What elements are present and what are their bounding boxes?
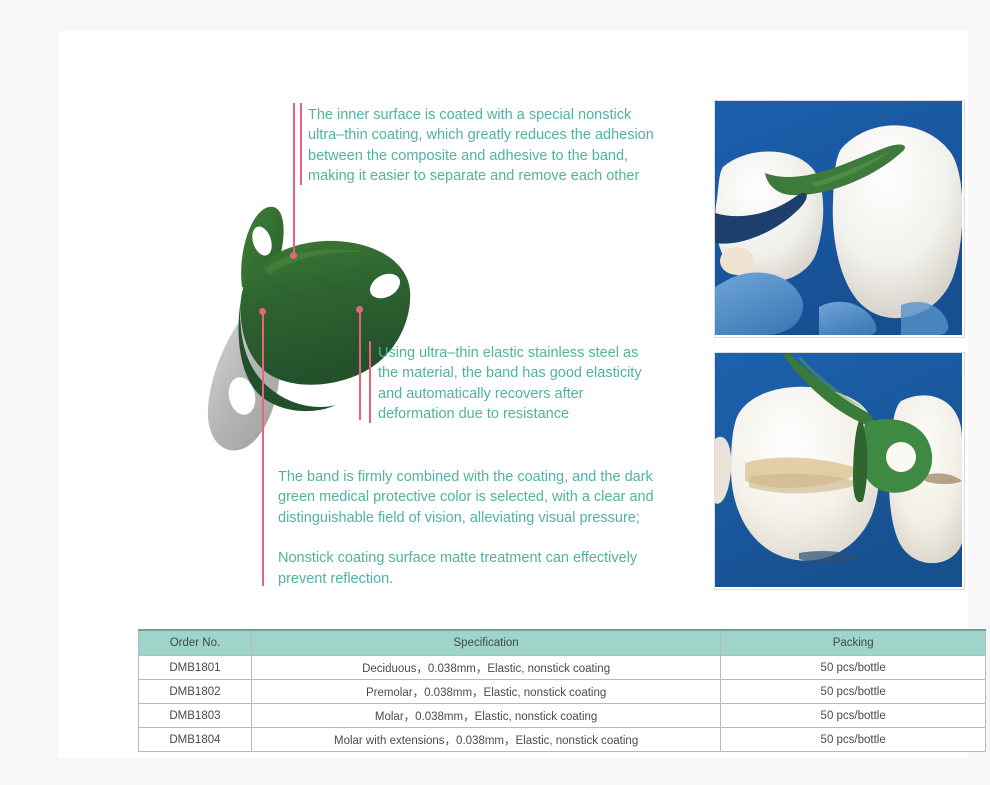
callout-text-stainless-steel: Using ultra–thin elastic stainless steel… (378, 343, 668, 425)
cell-specification: Molar，0.038mm，Elastic, nonstick coating (251, 704, 720, 728)
clinical-photo-band-occlusal-view (714, 352, 965, 590)
callout-1-line-3: between the composite and adhesive to th… (308, 146, 688, 166)
cell-order-no: DMB1801 (139, 656, 252, 680)
callout-3-line-1: The band is firmly combined with the coa… (278, 467, 678, 487)
cell-specification: Molar with extensions，0.038mm，Elastic, n… (251, 728, 720, 752)
product-sheet-card: The inner surface is coated with a speci… (58, 31, 968, 758)
clinical-photo-band-between-teeth (714, 100, 965, 338)
rule-bar-callout-3 (262, 436, 264, 586)
callout-1-line-2: ultra–thin coating, which greatly reduce… (308, 125, 688, 145)
cell-specification: Deciduous，0.038mm，Elastic, nonstick coat… (251, 656, 720, 680)
cell-packing: 50 pcs/bottle (721, 656, 986, 680)
rule-bar-callout-2 (369, 341, 371, 423)
callout-2-line-1: Using ultra–thin elastic stainless steel… (378, 343, 668, 363)
table-header-row: Order No. Specification Packing (139, 630, 986, 656)
table-row: DMB1804 Molar with extensions，0.038mm，El… (139, 728, 986, 752)
callout-3-line-4: Nonstick coating surface matte treatment… (278, 548, 678, 568)
column-header-order-no: Order No. (139, 630, 252, 656)
callout-2-line-3: and automatically recovers after (378, 384, 668, 404)
leader-line-callout-3 (262, 312, 264, 436)
cell-order-no: DMB1802 (139, 680, 252, 704)
photo-bottom-content (715, 353, 964, 589)
photo-bottom-graphic (715, 353, 962, 587)
cell-order-no: DMB1803 (139, 704, 252, 728)
cell-order-no: DMB1804 (139, 728, 252, 752)
callout-3-spacer (278, 528, 678, 548)
callout-3-line-5: prevent reflection. (278, 569, 678, 589)
callout-text-color-and-matte: The band is firmly combined with the coa… (278, 467, 678, 589)
leader-line-callout-2 (359, 310, 361, 420)
cell-packing: 50 pcs/bottle (721, 728, 986, 752)
spec-table-body: DMB1801 Deciduous，0.038mm，Elastic, nonst… (139, 656, 986, 752)
callout-3-line-2: green medical protective color is select… (278, 487, 678, 507)
rule-bar-callout-1 (300, 103, 302, 185)
table-row: DMB1802 Premolar，0.038mm，Elastic, nonsti… (139, 680, 986, 704)
specification-table: Order No. Specification Packing DMB1801 … (138, 629, 986, 752)
cell-packing: 50 pcs/bottle (721, 704, 986, 728)
table-row: DMB1801 Deciduous，0.038mm，Elastic, nonst… (139, 656, 986, 680)
column-header-packing: Packing (721, 630, 986, 656)
callout-text-nonstick-coating: The inner surface is coated with a speci… (308, 105, 688, 187)
leader-line-callout-1 (293, 103, 295, 255)
callout-1-line-4: making it easier to separate and remove … (308, 166, 688, 186)
photo-top-graphic (715, 101, 962, 335)
callout-2-line-4: deformation due to resistance (378, 404, 668, 424)
table-row: DMB1803 Molar，0.038mm，Elastic, nonstick … (139, 704, 986, 728)
callout-2-line-2: the material, the band has good elastici… (378, 363, 668, 383)
cell-specification: Premolar，0.038mm，Elastic, nonstick coati… (251, 680, 720, 704)
column-header-specification: Specification (251, 630, 720, 656)
leader-dot-callout-1 (290, 252, 297, 259)
callout-1-line-1: The inner surface is coated with a speci… (308, 105, 688, 125)
photo-top-content (715, 101, 964, 337)
cell-packing: 50 pcs/bottle (721, 680, 986, 704)
spec-table-head: Order No. Specification Packing (139, 630, 986, 656)
callout-3-line-3: distinguishable field of vision, allevia… (278, 508, 678, 528)
